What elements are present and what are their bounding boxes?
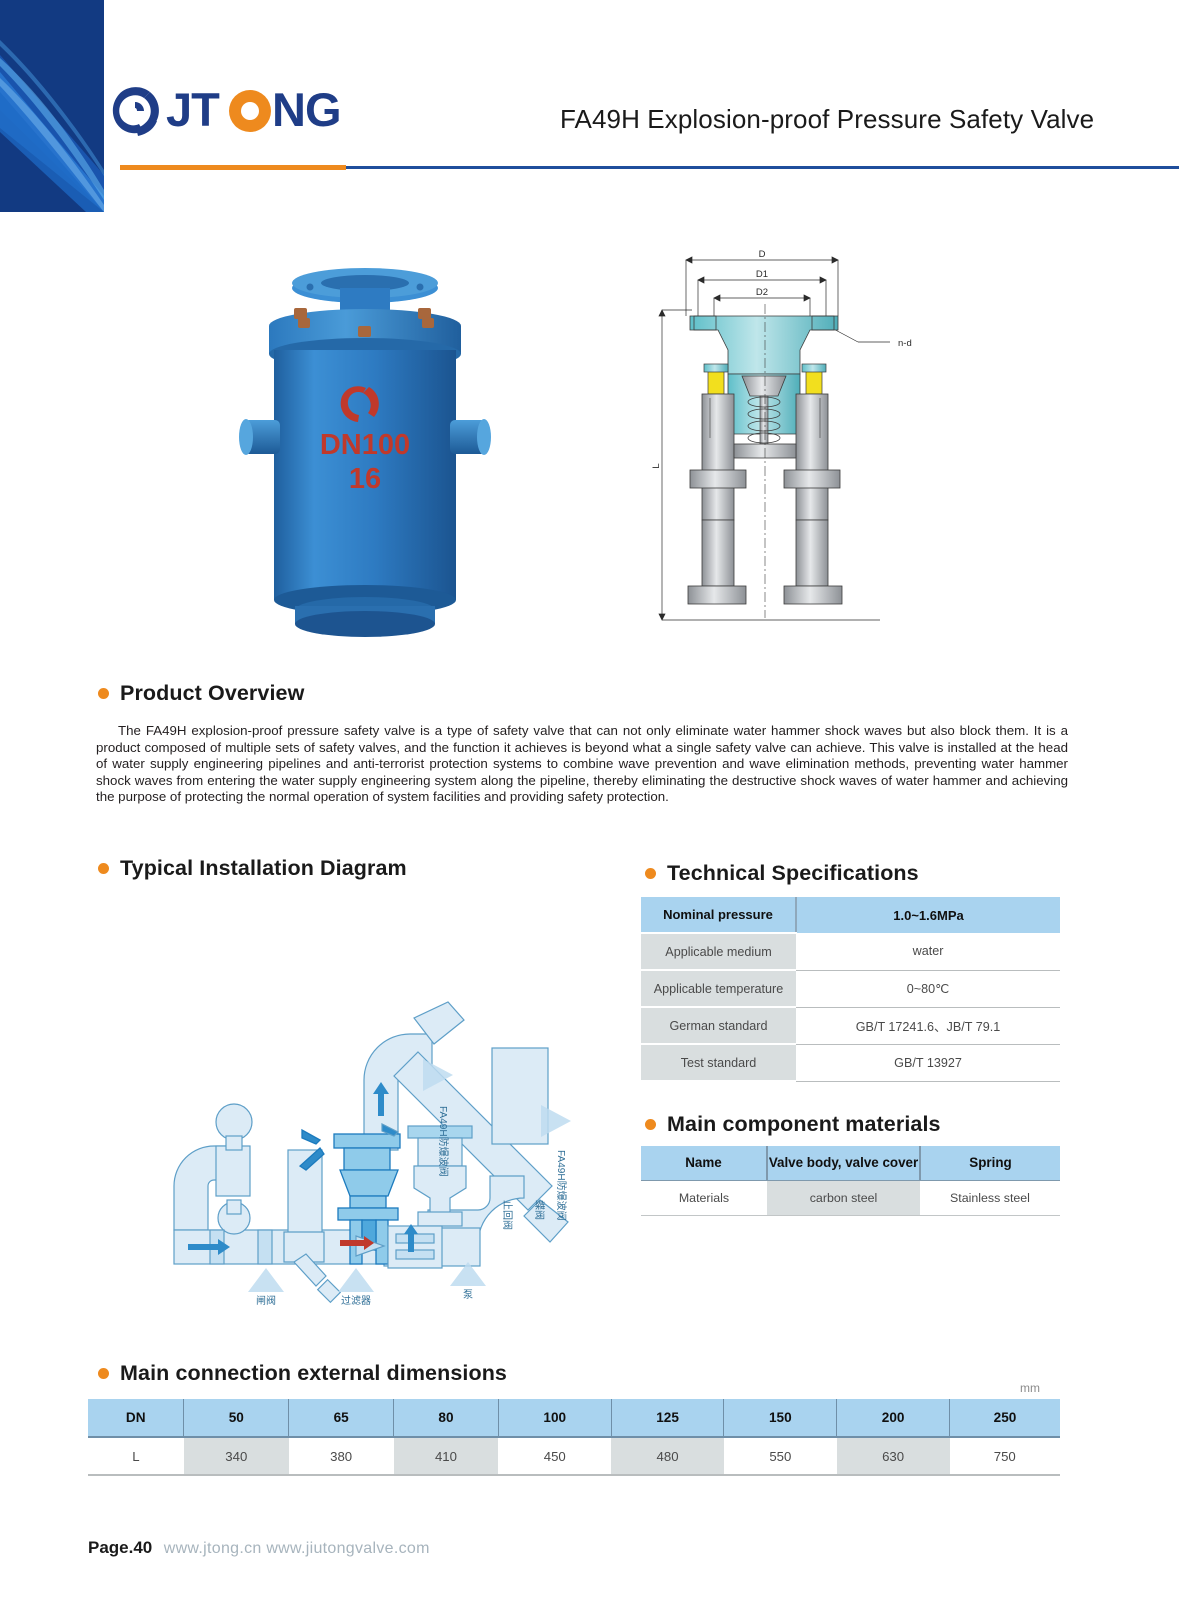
dimensions-heading-text: Main connection external dimensions <box>120 1361 507 1386</box>
dim-dn-1: 65 <box>289 1399 394 1437</box>
materials-header-0: Name <box>641 1146 767 1180</box>
section-heading-tech-specs: Technical Specifications <box>645 861 919 886</box>
jtong-wordmark: JT NG <box>166 82 356 140</box>
footer-urls: www.jtong.cn www.jiutongvalve.com <box>164 1540 430 1557</box>
tech-value-3: GB/T 17241.6、JB/T 79.1 <box>796 1007 1060 1044</box>
dim-l-0: 340 <box>184 1437 289 1475</box>
tech-value-4: GB/T 13927 <box>796 1044 1060 1081</box>
svg-text:NG: NG <box>272 83 341 136</box>
table-row: Name Valve body, valve cover Spring <box>641 1146 1060 1180</box>
label-gate-valve: 闸阀 <box>256 1294 276 1307</box>
label-valve-right: FA49H防爆波阀 <box>555 1150 568 1221</box>
label-check-valve: 止回阀 <box>501 1200 514 1230</box>
tech-key-0: Nominal pressure <box>641 897 796 933</box>
dim-l-4: 480 <box>611 1437 724 1475</box>
page-title: FA49H Explosion-proof Pressure Safety Va… <box>560 104 1080 144</box>
dim-label-d1: D1 <box>756 269 768 280</box>
dim-label-l: L <box>651 463 662 468</box>
dim-label-d: D <box>759 249 766 260</box>
section-heading-materials: Main component materials <box>645 1112 941 1137</box>
dim-dn-5: 150 <box>724 1399 837 1437</box>
page-header: JT NG FA49H Explosion-proof Pressure Saf… <box>0 0 1179 212</box>
dim-l-5: 550 <box>724 1437 837 1475</box>
decorative-stripe-graphic <box>0 0 104 212</box>
installation-diagram: FA49H防爆波阀 FA49H防爆波阀 止回阀 蝶阀 闸阀 过滤器 泵 <box>88 900 628 1330</box>
table-row: Applicable temperature 0~80℃ <box>641 970 1060 1007</box>
tech-key-2: Applicable temperature <box>641 970 796 1007</box>
technical-drawing: D D1 D2 n-d L <box>650 238 942 642</box>
tech-key-4: Test standard <box>641 1044 796 1081</box>
dim-header-label: DN <box>88 1399 184 1437</box>
dim-label-d2: D2 <box>756 287 768 298</box>
tech-key-1: Applicable medium <box>641 933 796 970</box>
dim-l-6: 630 <box>837 1437 950 1475</box>
bullet-icon <box>98 688 109 699</box>
dim-l-3: 450 <box>498 1437 611 1475</box>
table-row: DN 50 65 80 100 125 150 200 250 <box>88 1399 1060 1437</box>
table-row: German standard GB/T 17241.6、JB/T 79.1 <box>641 1007 1060 1044</box>
label-pump: 泵 <box>463 1289 473 1301</box>
dim-dn-4: 125 <box>611 1399 724 1437</box>
materials-heading-text: Main component materials <box>667 1112 941 1137</box>
materials-header-2: Spring <box>920 1146 1060 1180</box>
product-photo: DN100 16 <box>232 240 498 640</box>
table-row: Materials carbon steel Stainless steel <box>641 1180 1060 1215</box>
table-row: Test standard GB/T 13927 <box>641 1044 1060 1081</box>
brand-logo: JT NG <box>104 78 354 144</box>
dim-dn-0: 50 <box>184 1399 289 1437</box>
tech-key-3: German standard <box>641 1007 796 1044</box>
overview-heading-text: Product Overview <box>120 681 304 706</box>
bullet-icon <box>98 863 109 874</box>
tech-heading-text: Technical Specifications <box>667 861 919 886</box>
materials-cell-2: Stainless steel <box>920 1180 1060 1215</box>
dim-l-7: 750 <box>950 1437 1061 1475</box>
dim-dn-3: 100 <box>498 1399 611 1437</box>
header-rule-orange <box>120 165 346 170</box>
materials-header-1: Valve body, valve cover <box>767 1146 920 1180</box>
dim-l-2: 410 <box>394 1437 499 1475</box>
dimensions-table: DN 50 65 80 100 125 150 200 250 L 340 38… <box>88 1399 1060 1476</box>
bullet-icon <box>645 868 656 879</box>
svg-text:JT: JT <box>166 83 220 136</box>
tech-specs-table: Nominal pressure 1.0~1.6MPa Applicable m… <box>641 897 1060 1082</box>
section-heading-installation: Typical Installation Diagram <box>98 856 407 881</box>
table-row: L 340 380 410 450 480 550 630 750 <box>88 1437 1060 1475</box>
jtong-swirl-icon <box>104 80 166 142</box>
materials-cell-0: Materials <box>641 1180 767 1215</box>
bullet-icon <box>98 1368 109 1379</box>
page-number: Page.40 <box>88 1538 152 1557</box>
label-filter: 过滤器 <box>341 1294 371 1307</box>
table-row: Applicable medium water <box>641 933 1060 970</box>
header-rule-blue <box>346 166 1179 169</box>
svg-text:DN100: DN100 <box>320 429 410 461</box>
svg-text:16: 16 <box>349 463 381 495</box>
overview-paragraph: The FA49H explosion-proof pressure safet… <box>96 723 1068 806</box>
label-butterfly-valve: 蝶阀 <box>533 1200 546 1220</box>
label-valve-upper: FA49H防爆波阀 <box>437 1106 450 1177</box>
installation-heading-text: Typical Installation Diagram <box>120 856 407 881</box>
materials-table: Name Valve body, valve cover Spring Mate… <box>641 1146 1060 1216</box>
bullet-icon <box>645 1119 656 1130</box>
tech-value-1: water <box>796 933 1060 970</box>
dim-dn-6: 200 <box>837 1399 950 1437</box>
section-heading-overview: Product Overview <box>98 681 304 706</box>
section-heading-dimensions: Main connection external dimensions <box>98 1361 507 1386</box>
tech-value-0: 1.0~1.6MPa <box>796 897 1060 933</box>
table-row: Nominal pressure 1.0~1.6MPa <box>641 897 1060 933</box>
dimensions-unit-label: mm <box>1020 1381 1040 1395</box>
dim-l-1: 380 <box>289 1437 394 1475</box>
dim-row-label: L <box>88 1437 184 1475</box>
tech-value-2: 0~80℃ <box>796 970 1060 1007</box>
dim-dn-7: 250 <box>950 1399 1061 1437</box>
page-footer: Page.40 www.jtong.cn www.jiutongvalve.co… <box>88 1538 430 1558</box>
materials-cell-1: carbon steel <box>767 1180 920 1215</box>
dim-label-nd: n-d <box>898 338 912 349</box>
dim-dn-2: 80 <box>394 1399 499 1437</box>
